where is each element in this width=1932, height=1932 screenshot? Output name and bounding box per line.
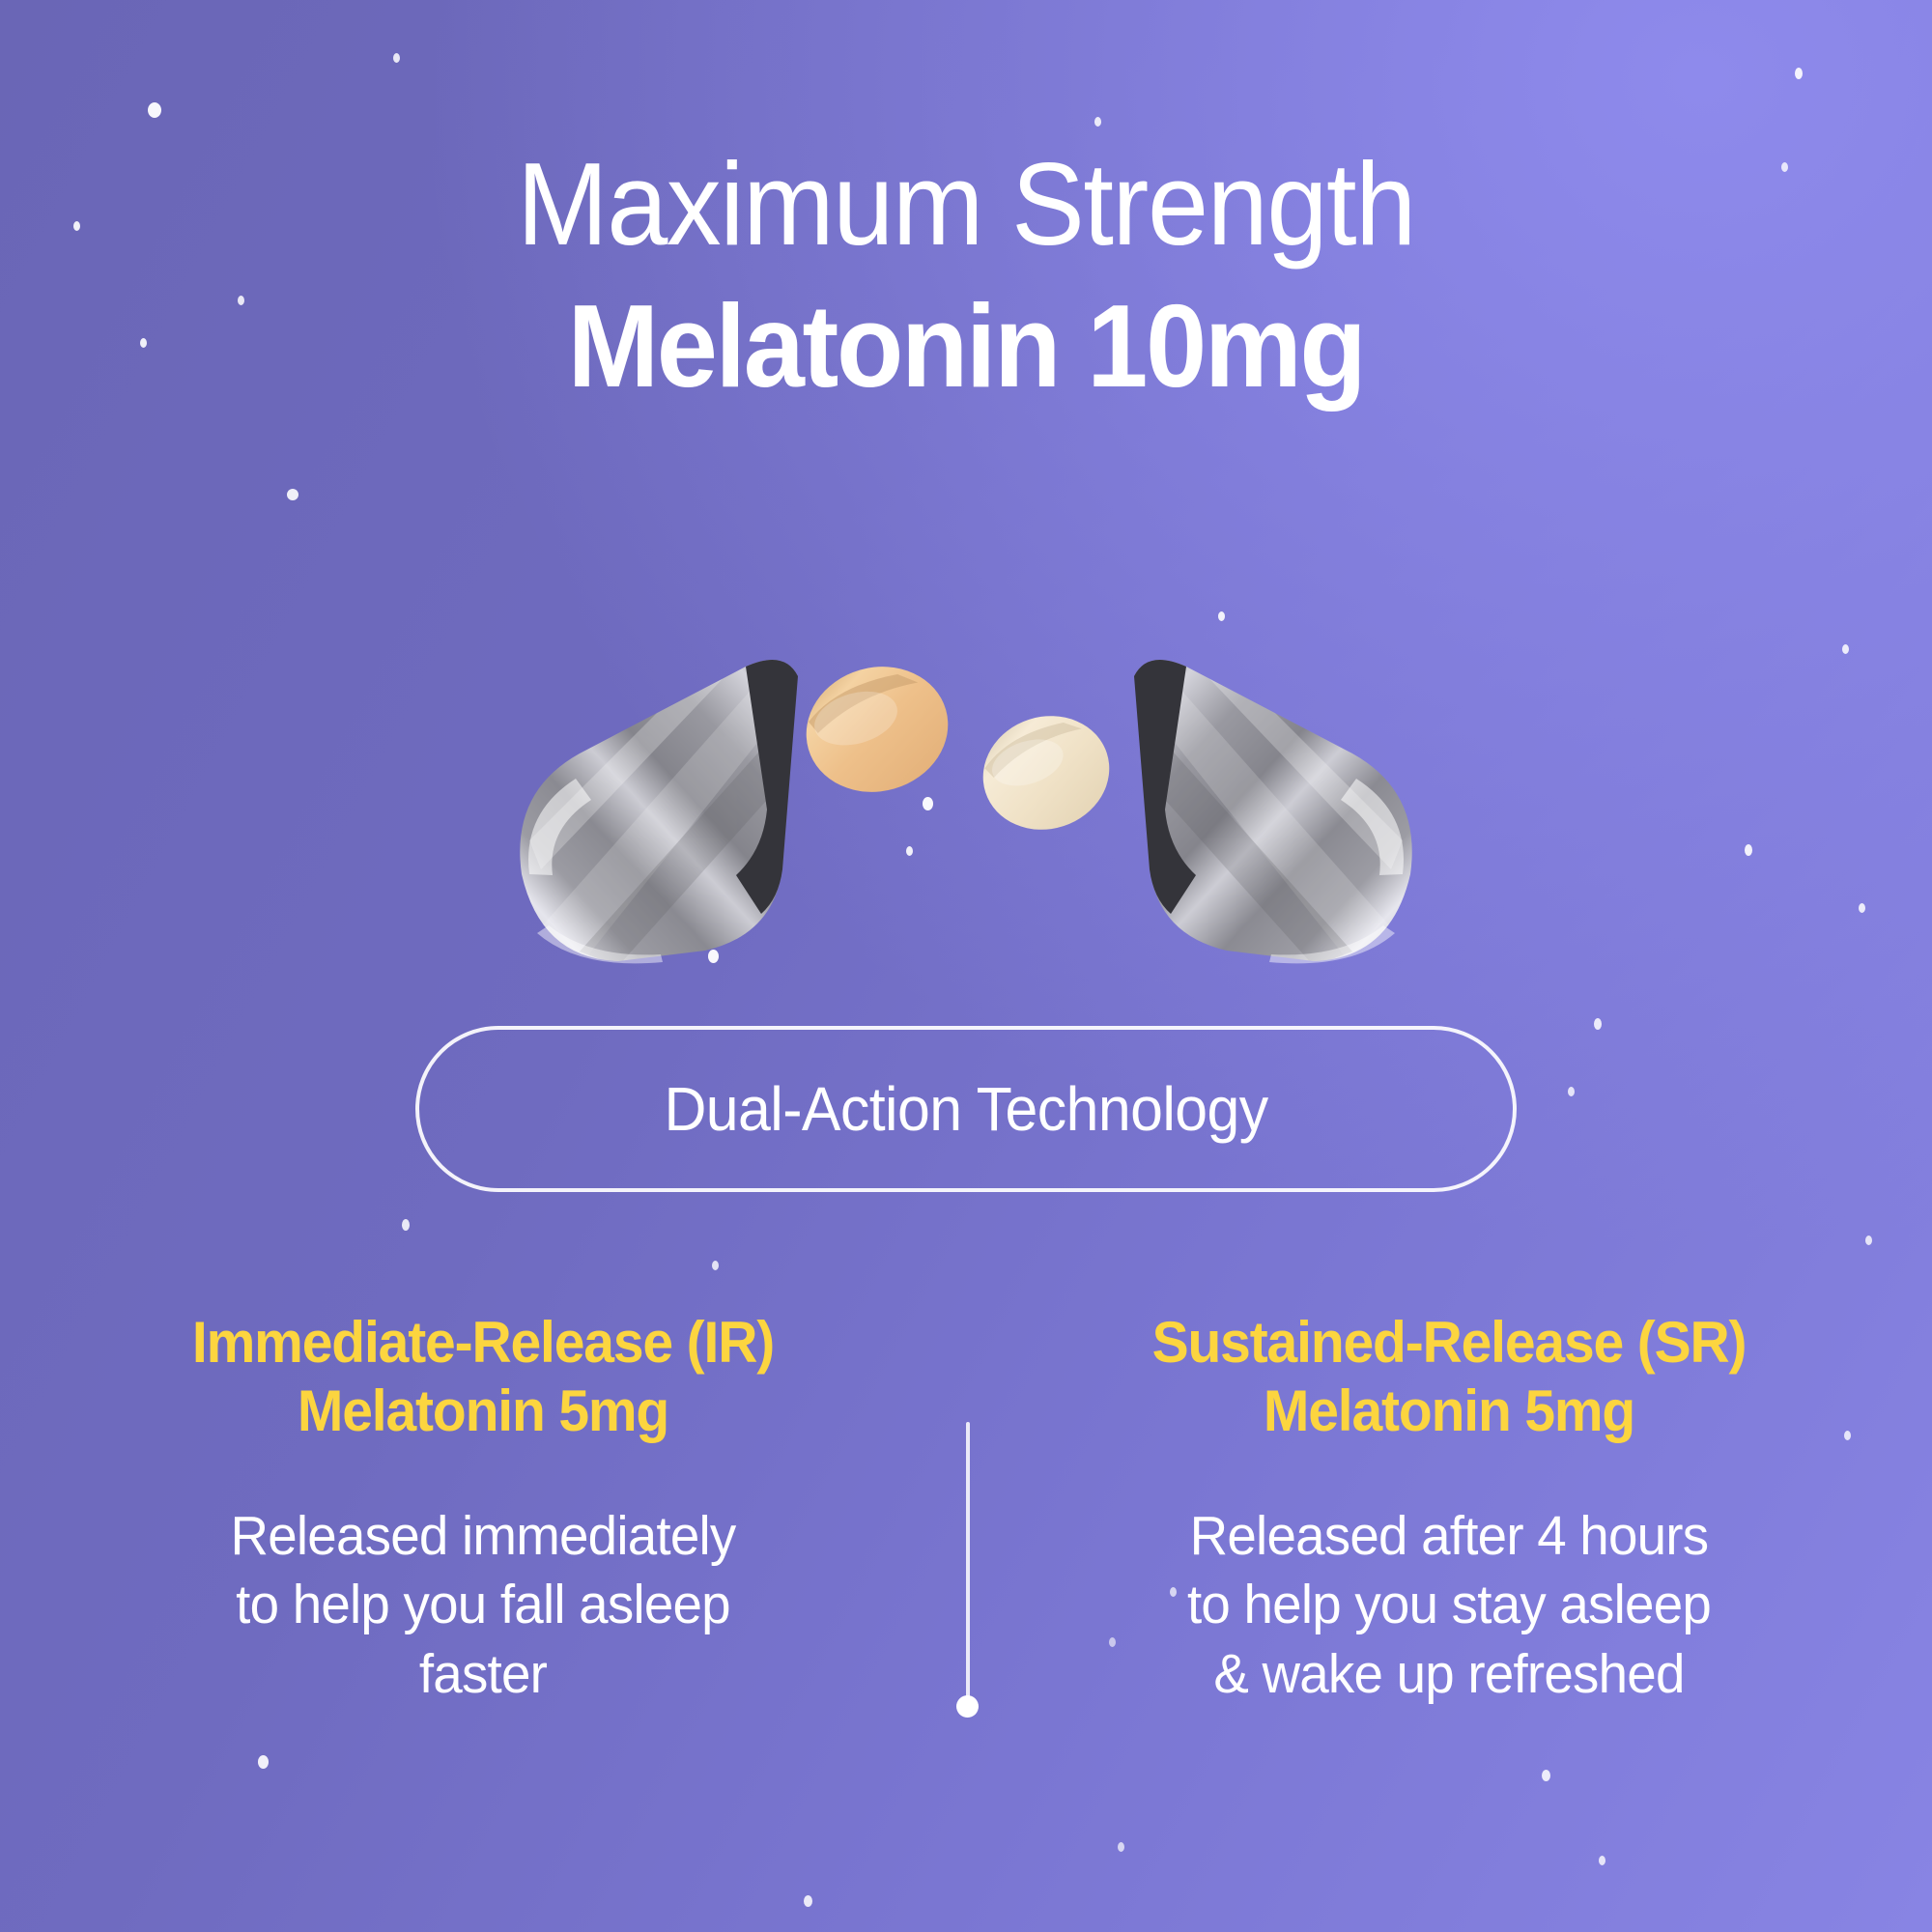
feature-column-immediate-release: Immediate-Release (IR) Melatonin 5mg Rel… bbox=[0, 1309, 966, 1710]
column-divider bbox=[966, 1422, 970, 1712]
column-body-line-1: Released immediately bbox=[71, 1502, 895, 1572]
sparkle-dot bbox=[906, 846, 913, 856]
feature-column-sustained-release: Sustained-Release (SR) Melatonin 5mg Rel… bbox=[966, 1309, 1932, 1710]
hero-heading: Maximum Strength Melatonin 10mg bbox=[0, 145, 1932, 412]
sparkle-dot bbox=[1842, 644, 1849, 654]
sparkle-dot bbox=[1745, 844, 1752, 856]
column-body-line-3: faster bbox=[71, 1640, 895, 1710]
sparkle-dot bbox=[708, 950, 719, 963]
column-body-immediate-release: Released immediately to help you fall as… bbox=[71, 1502, 895, 1710]
sparkle-dot bbox=[712, 1261, 719, 1270]
column-title-line-2: Melatonin 5mg bbox=[75, 1378, 891, 1446]
hero-title-line-1: Maximum Strength bbox=[68, 145, 1864, 263]
column-title-line-2: Melatonin 5mg bbox=[1041, 1378, 1857, 1446]
sparkle-dot bbox=[1594, 1018, 1602, 1030]
dual-action-technology-badge: Dual-Action Technology bbox=[415, 1026, 1517, 1192]
column-title-sustained-release: Sustained-Release (SR) Melatonin 5mg bbox=[1041, 1309, 1857, 1446]
column-title-line-1: Immediate-Release (IR) bbox=[75, 1309, 891, 1378]
column-body-line-3: & wake up refreshed bbox=[1037, 1640, 1861, 1710]
sparkle-dot bbox=[1094, 117, 1101, 127]
sparkle-dot bbox=[258, 1755, 269, 1769]
column-body-sustained-release: Released after 4 hours to help you stay … bbox=[1037, 1502, 1861, 1710]
sparkle-dot bbox=[1568, 1087, 1575, 1096]
tablet-sustained-release bbox=[968, 699, 1123, 845]
column-divider-dot bbox=[956, 1695, 979, 1718]
column-title-immediate-release: Immediate-Release (IR) Melatonin 5mg bbox=[75, 1309, 891, 1446]
column-body-line-1: Released after 4 hours bbox=[1037, 1502, 1861, 1572]
sparkle-dot bbox=[1859, 903, 1865, 913]
sparkle-dot bbox=[804, 1895, 812, 1907]
sparkle-dot bbox=[402, 1219, 410, 1231]
sparkle-dot bbox=[393, 53, 400, 63]
sparkle-dot bbox=[287, 489, 298, 500]
sparkle-dot bbox=[1118, 1842, 1124, 1852]
sparkle-dot bbox=[1795, 68, 1803, 79]
column-body-line-2: to help you fall asleep bbox=[71, 1571, 895, 1640]
badge-label: Dual-Action Technology bbox=[664, 1073, 1267, 1145]
column-title-line-1: Sustained-Release (SR) bbox=[1041, 1309, 1857, 1378]
capsule-half-right bbox=[1132, 655, 1412, 966]
column-body-line-2: to help you stay asleep bbox=[1037, 1571, 1861, 1640]
product-infographic: Maximum Strength Melatonin 10mg bbox=[0, 0, 1932, 1932]
sparkle-dot bbox=[1599, 1856, 1605, 1865]
sparkle-dot bbox=[1865, 1236, 1872, 1245]
sparkle-dot bbox=[1542, 1770, 1550, 1781]
sparkle-dot bbox=[923, 797, 933, 810]
capsule-half-left bbox=[520, 655, 800, 966]
tablet-immediate-release bbox=[791, 650, 963, 809]
hero-title-line-2: Melatonin 10mg bbox=[68, 280, 1864, 412]
sparkle-dot bbox=[1218, 611, 1225, 621]
sparkle-dot bbox=[148, 102, 161, 118]
